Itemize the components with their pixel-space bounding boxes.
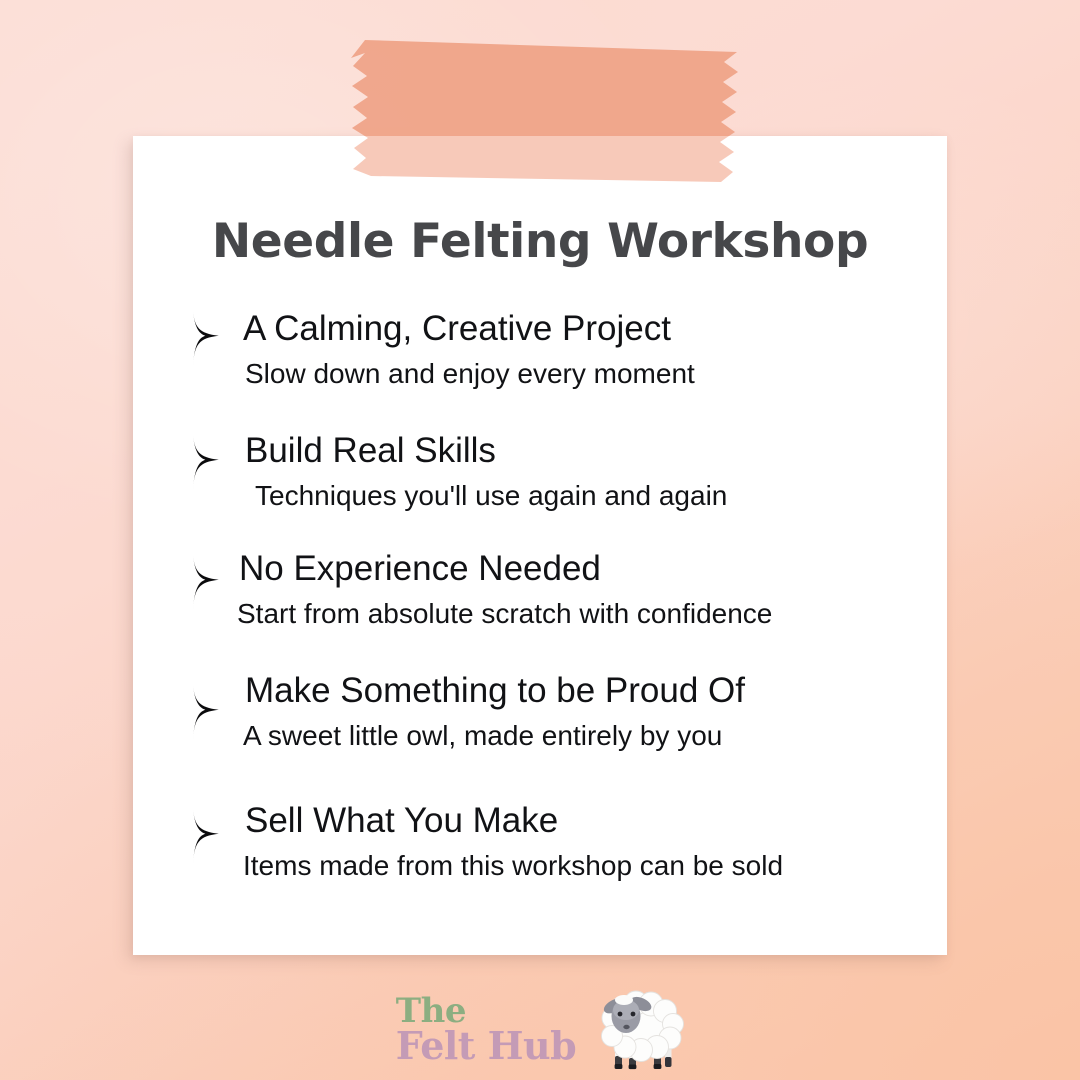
benefit-subtitle: A sweet little owl, made entirely by you bbox=[243, 719, 745, 753]
sparkle-star-icon bbox=[165, 808, 221, 864]
benefit-text-block: Build Real Skills Techniques you'll use … bbox=[245, 430, 727, 513]
benefit-item: A Calming, Creative Project Slow down an… bbox=[133, 310, 947, 430]
benefits-list: A Calming, Creative Project Slow down an… bbox=[133, 310, 947, 918]
benefit-subtitle: Techniques you'll use again and again bbox=[255, 479, 727, 513]
brand-logo: The Felt Hub bbox=[0, 988, 1080, 1074]
benefit-item: No Experience Needed Start from absolute… bbox=[133, 550, 947, 670]
benefit-item: Sell What You Make Items made from this … bbox=[133, 798, 947, 918]
benefit-title: No Experience Needed bbox=[239, 548, 772, 589]
benefit-item: Make Something to be Proud Of A sweet li… bbox=[133, 670, 947, 798]
page-title: Needle Felting Workshop bbox=[133, 214, 947, 269]
benefit-item: Build Real Skills Techniques you'll use … bbox=[133, 430, 947, 550]
benefit-text-block: Make Something to be Proud Of A sweet li… bbox=[245, 670, 745, 753]
benefit-title: A Calming, Creative Project bbox=[243, 308, 695, 349]
benefit-subtitle: Slow down and enjoy every moment bbox=[245, 357, 695, 391]
sparkle-star-icon bbox=[165, 554, 221, 610]
benefit-subtitle: Start from absolute scratch with confide… bbox=[237, 597, 772, 631]
sparkle-star-icon bbox=[165, 684, 221, 740]
sheep-icon bbox=[580, 988, 684, 1074]
sparkle-star-icon bbox=[165, 310, 221, 366]
logo-line-felt-hub: Felt Hub bbox=[396, 1028, 576, 1064]
sparkle-star-icon bbox=[165, 434, 221, 490]
benefit-text-block: Sell What You Make Items made from this … bbox=[245, 800, 783, 883]
benefit-text-block: A Calming, Creative Project Slow down an… bbox=[243, 308, 695, 391]
benefit-title: Make Something to be Proud Of bbox=[245, 670, 745, 711]
content-card: Needle Felting Workshop A Calming, Creat… bbox=[133, 136, 947, 955]
benefit-title: Sell What You Make bbox=[245, 800, 783, 841]
benefit-title: Build Real Skills bbox=[245, 430, 727, 471]
benefit-text-block: No Experience Needed Start from absolute… bbox=[239, 548, 772, 631]
logo-wordmark: The Felt Hub bbox=[396, 995, 576, 1074]
benefit-subtitle: Items made from this workshop can be sol… bbox=[243, 849, 783, 883]
